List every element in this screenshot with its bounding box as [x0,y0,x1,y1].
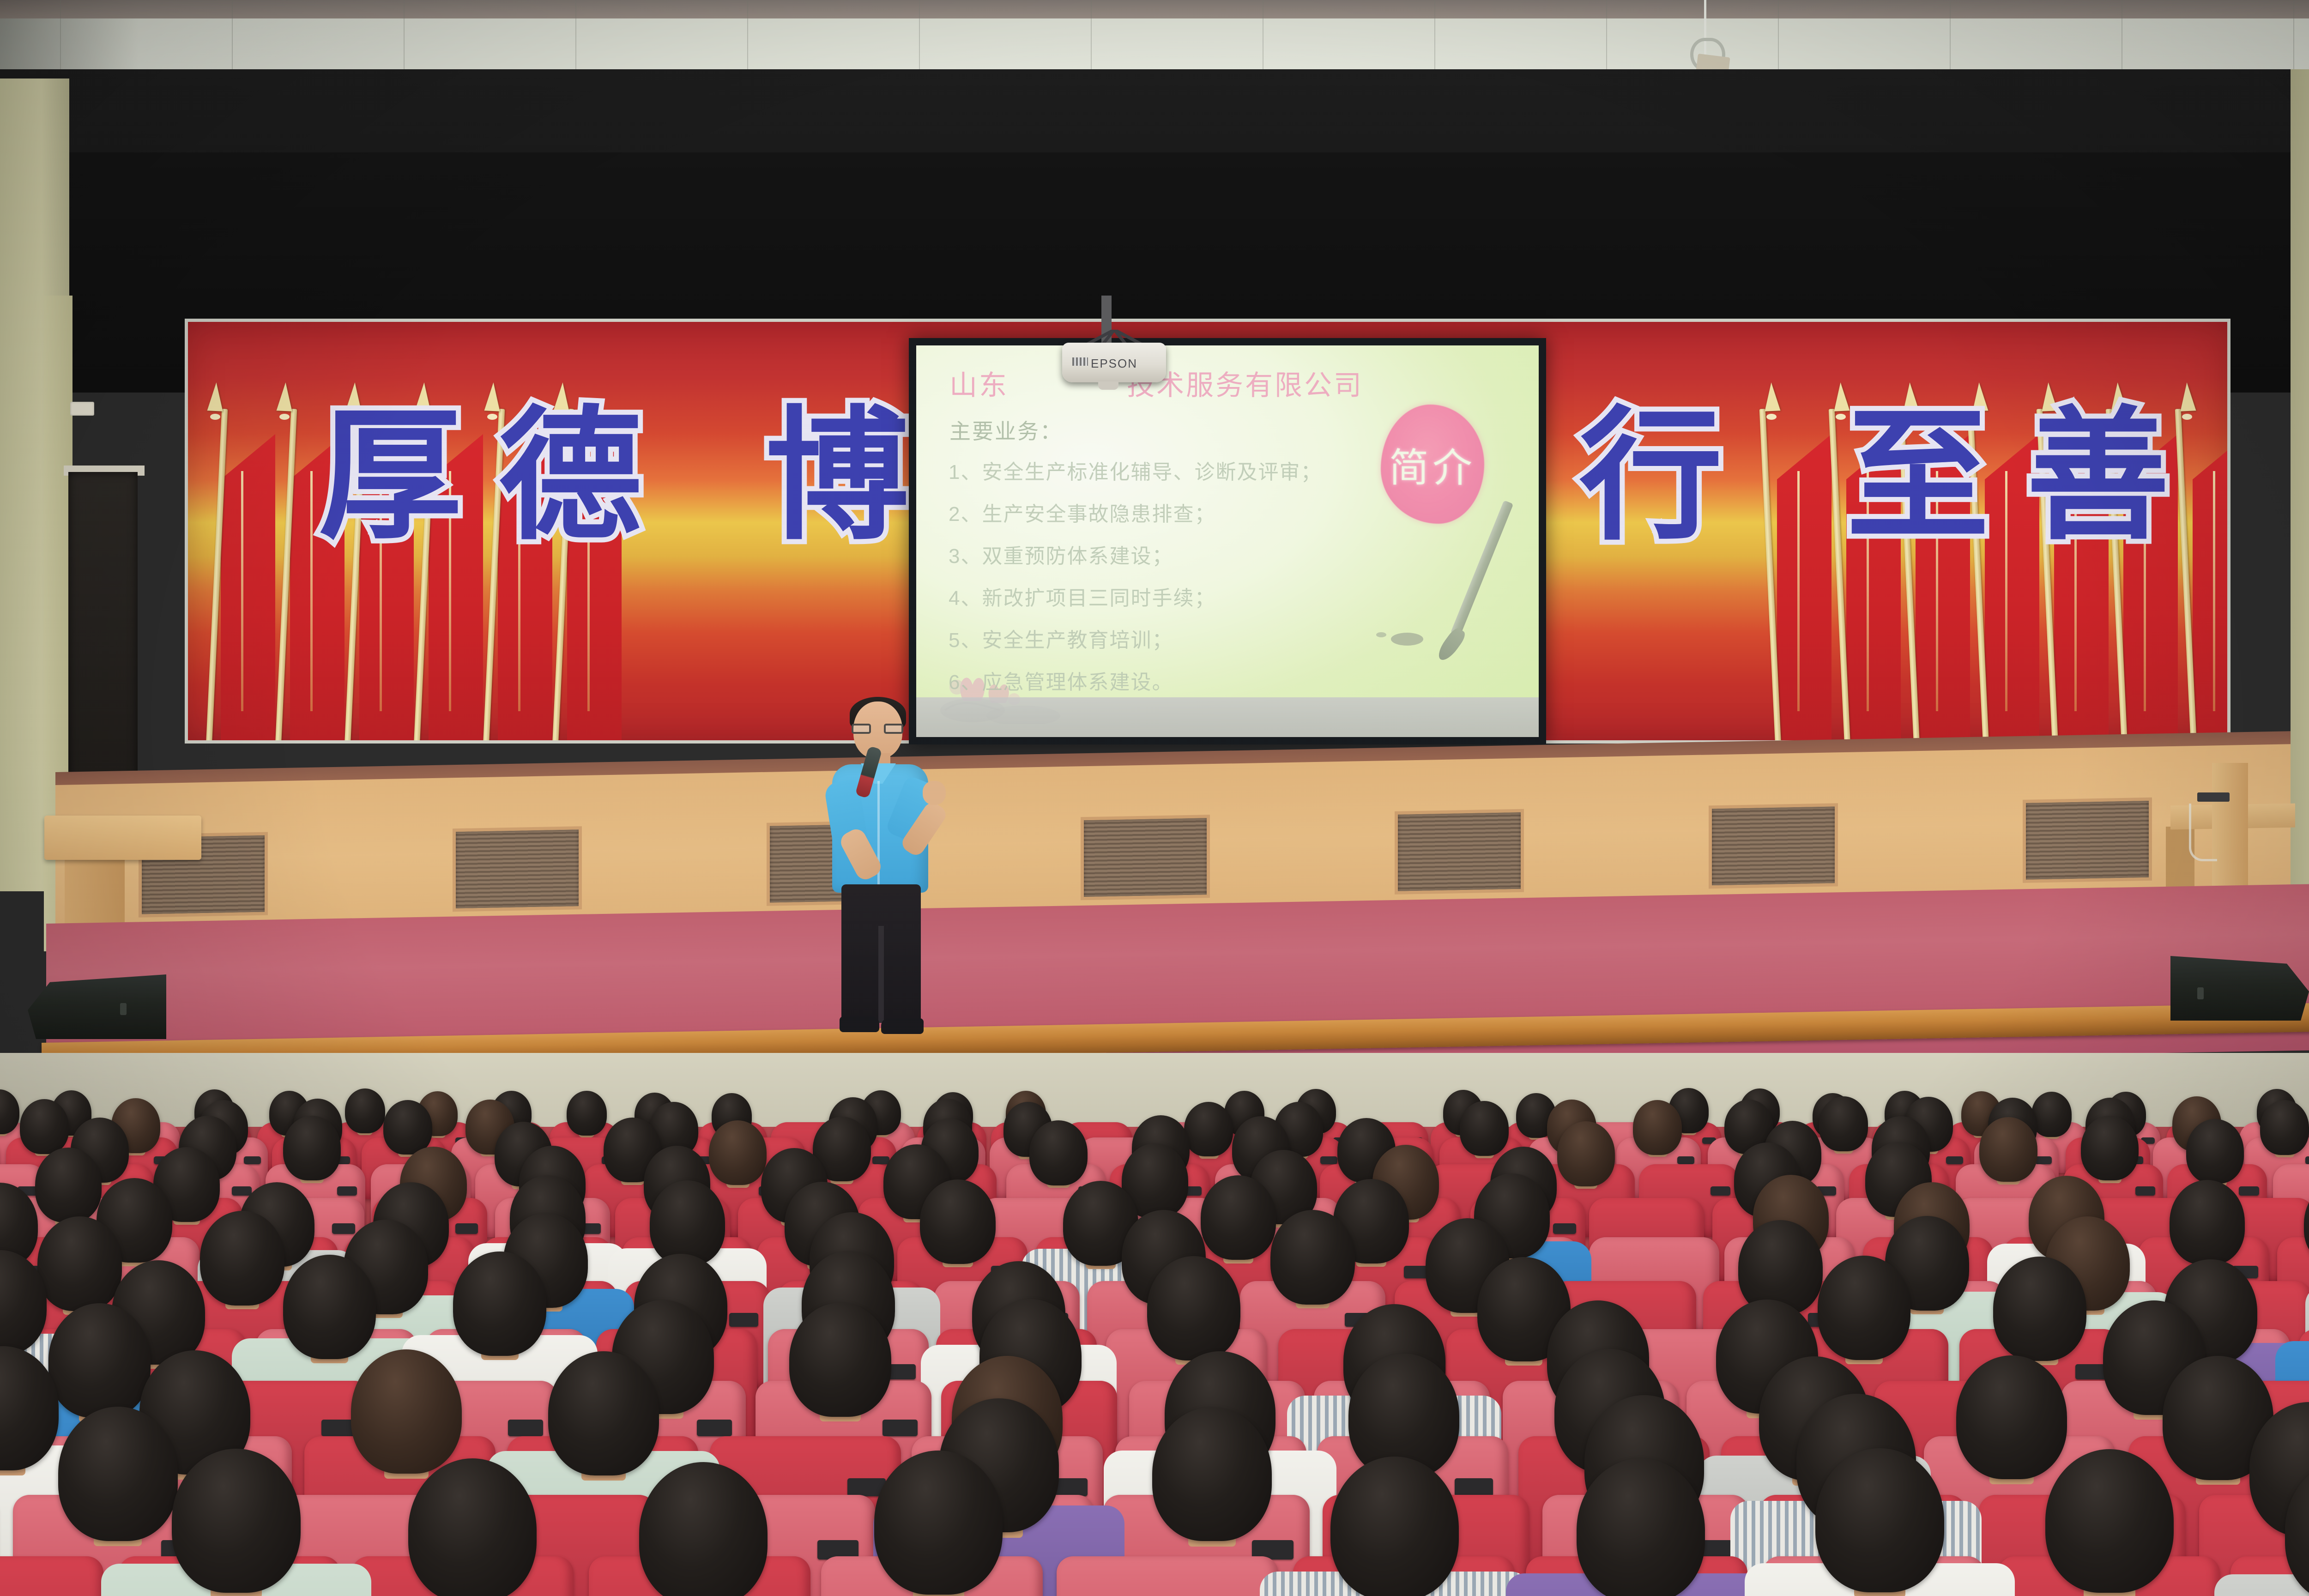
wall-vent [1081,815,1210,900]
audience-member-head [37,1216,122,1311]
speaker-icon-left [28,974,166,1039]
audience-member-head [2031,1092,2072,1137]
glasses-icon [852,724,903,734]
wall-vent-group [55,744,2291,785]
seat-headrest-clip [508,1420,543,1436]
projector-lens-foot [1098,381,1118,390]
slide-bullet-item: 6、应急管理体系建设。 [949,665,1322,695]
audience-member-head [351,1349,462,1474]
audience-member-head [1956,1355,2067,1480]
pole-tassel [2213,471,2215,711]
audience-member-head [1201,1175,1276,1260]
seat-headrest-clip [1946,1156,1963,1164]
wall-vent [2023,798,2152,883]
audience-member-head [283,1116,341,1180]
pole-tassel [310,471,313,711]
audience-member-head [35,1148,102,1222]
wall-vent [1395,809,1524,895]
audience-member-head [1818,1256,1911,1360]
ceiling-top-band [0,0,2309,18]
audience-member-head [408,1458,537,1596]
audience-member-head [58,1407,178,1541]
spear-tip-icon [277,382,294,411]
audience-seat[interactable] [1057,1556,1278,1596]
audience-seat[interactable] [0,1556,103,1596]
slide-bullet-item: 2、生产安全事故隐患排查； [949,497,1322,527]
audience-member-head [1819,1096,1868,1151]
audience-member-head [2260,1100,2309,1155]
audience-member-head [383,1100,432,1155]
audience-member-head [1633,1100,1682,1155]
audience-member-head [48,1303,151,1417]
audience-member-head [453,1251,546,1356]
auditorium-scene: 厚德 博学 笃行 至善 山东 技术服务有限公司 主要业务： 1、安全生产标准化辅… [0,0,2309,1596]
seat-headrest-clip [2239,1186,2259,1196]
audience-member-head [2170,1180,2245,1264]
slide-subtitle: 主要业务： [949,415,1063,445]
slide-bullet-item: 5、安全生产教育培训； [949,623,1322,653]
wall-vent [1709,803,1838,889]
lectern-top[interactable] [44,816,201,860]
seat-headrest-clip [1455,1478,1493,1496]
audience-member-head [874,1451,1003,1595]
audience-member-head [567,1091,607,1136]
audience-member-head [345,1088,385,1133]
spear-tip-icon [207,382,224,411]
seat-headrest-clip [232,1186,252,1196]
audience-member-head [1460,1101,1509,1156]
presentation-slide: 山东 技术服务有限公司 主要业务： 1、安全生产标准化辅导、诊断及评审；2、生产… [916,345,1539,737]
audience-member-head [1184,1102,1233,1157]
seat-headrest-clip [1677,1156,1694,1164]
slide-badge-inkblot: 简介 [1381,405,1484,524]
seat-headrest-clip [455,1223,478,1234]
seat-headrest-clip [697,1420,732,1436]
calligraphy-brush-icon [1451,500,1514,637]
stage-left-doorway[interactable] [68,472,138,814]
presenter-figure [804,690,956,1041]
projection-screen: 山东 技术服务有限公司 主要业务： 1、安全生产标准化辅导、诊断及评审；2、生产… [909,338,1546,744]
audience-member-head [1152,1407,1272,1541]
control-desk-cable [2189,804,2217,861]
audience-member-head [650,1180,725,1265]
audience-member-head [920,1179,996,1264]
speaker-icon-right [2170,956,2309,1021]
audience-member-head [1557,1121,1615,1186]
presenter-right-shoe [881,1018,924,1034]
audience-member-head [2045,1449,2174,1593]
slide-bottom-bar [916,697,1539,737]
seat-headrest-clip [2035,1156,2052,1164]
seat-headrest-clip [1553,1223,1576,1234]
audience-member-head [789,1303,891,1417]
seat-headrest-clip [882,1420,918,1436]
presenter-right-hand [923,781,946,805]
slide-bullet-list: 1、安全生产标准化辅导、诊断及评审；2、生产安全事故隐患排查；3、双重预防体系建… [949,455,1322,707]
seat-headrest-clip [872,1156,889,1164]
audience-member-head [548,1351,659,1475]
seat-headrest-clip [244,1156,261,1164]
pole-knob [279,414,290,420]
audience-member-head [2081,1116,2139,1180]
audience-member-head [1029,1120,1087,1185]
seat-headrest-clip [337,1186,357,1196]
audience-member-head [1993,1257,2086,1361]
slide-bullet-item: 3、双重预防体系建设； [949,539,1322,569]
audience-member-head [20,1099,69,1154]
audience-member-head [2186,1119,2244,1184]
pole-tassel [241,471,243,711]
audience-member-head [1270,1210,1355,1305]
presenter-leg-gap [878,926,884,1023]
slide-bullet-item: 1、安全生产标准化辅导、诊断及评审； [949,455,1322,485]
slide-bullet-item: 4、新改扩项目三同时手续； [949,581,1322,611]
seat-headrest-clip [1711,1186,1730,1196]
audience-member-head [1147,1256,1240,1360]
speaker-handle [2197,987,2204,999]
audience-member-head [1979,1117,2037,1182]
speaker-handle [120,1003,127,1015]
audience-member-head [1330,1457,1459,1596]
audience-member-head [1577,1458,1705,1596]
presenter-left-shoe [840,1016,879,1032]
seat-headrest-clip [729,1313,758,1327]
audience-member-head [639,1462,768,1596]
control-desk-equipment[interactable] [2197,792,2230,802]
audience-member-head [1815,1448,1944,1592]
wall-vent [453,826,582,912]
seat-headrest-clip [2135,1186,2155,1196]
seat-headrest-clip [332,1223,355,1234]
projector-icon: EPSON [1062,343,1166,382]
light-switch-plate[interactable] [70,402,94,416]
audience-member-head [709,1120,767,1185]
seat-headrest-clip [2305,1156,2309,1164]
audience-member-head [172,1449,300,1593]
audience-seating-area [0,1053,2309,1596]
ink-splat [1391,633,1423,646]
ink-splat-small [1376,632,1386,637]
audience-member-head [283,1255,376,1359]
slide-badge-label: 简介 [1381,435,1484,493]
audience-member-head [200,1211,284,1306]
flag-icon [221,434,275,744]
seat-headrest-clip [1320,1156,1337,1164]
projector-brand-label: EPSON [1062,357,1166,371]
pole-knob [210,414,220,420]
audience-member-head [1738,1220,1823,1315]
